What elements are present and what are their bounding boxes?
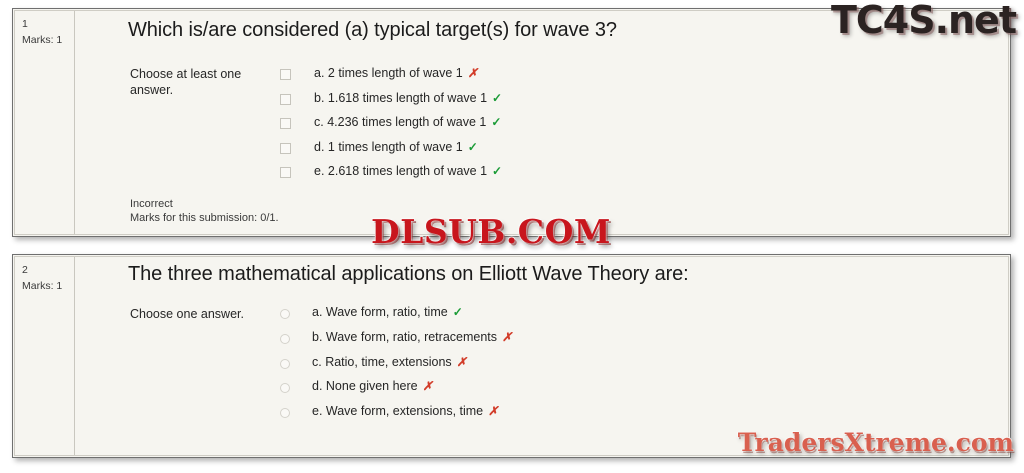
question-1-feedback: Incorrect Marks for this submission: 0/1… <box>130 197 279 225</box>
check-icon: ✓ <box>453 305 463 319</box>
question-2-title: The three mathematical applications on E… <box>128 263 689 286</box>
option-radio-a[interactable] <box>280 309 290 319</box>
option-label-b: b. Wave form, ratio, retracements✗ <box>312 328 512 346</box>
question-1-marks: Marks: 1 <box>22 34 74 47</box>
question-2-number: 2 <box>22 264 74 277</box>
option-label-d: d. None given here✗ <box>312 377 433 395</box>
option-checkbox-c[interactable] <box>280 118 291 129</box>
option-checkbox-a[interactable] <box>280 69 291 80</box>
cross-icon: ✗ <box>468 66 478 80</box>
option-text-a: a. Wave form, ratio, time <box>312 305 448 319</box>
option-label-d: d. 1 times length of wave 1✓ <box>314 138 478 156</box>
cross-icon: ✗ <box>423 379 433 393</box>
option-radio-b[interactable] <box>280 334 290 344</box>
option-label-e: e. 2.618 times length of wave 1✓ <box>314 162 502 180</box>
question-panel-2-inner: 2 Marks: 1 The three mathematical applic… <box>14 256 1009 456</box>
option-text-c: c. 4.236 times length of wave 1 <box>314 115 486 129</box>
check-icon: ✓ <box>468 140 478 154</box>
question-panel-2: 2 Marks: 1 The three mathematical applic… <box>12 254 1011 458</box>
option-text-c: c. Ratio, time, extensions <box>312 355 452 369</box>
check-icon: ✓ <box>492 91 502 105</box>
question-panel-1: 1 Marks: 1 Which is/are considered (a) t… <box>12 8 1011 237</box>
option-text-b: b. Wave form, ratio, retracements <box>312 330 497 344</box>
question-1-meta: 1 Marks: 1 <box>15 11 75 234</box>
check-icon: ✓ <box>491 115 501 129</box>
option-label-a: a. Wave form, ratio, time✓ <box>312 303 463 321</box>
cross-icon: ✗ <box>457 355 467 369</box>
option-checkbox-b[interactable] <box>280 94 291 105</box>
option-text-d: d. 1 times length of wave 1 <box>314 140 463 154</box>
feedback-submission: Marks for this submission: 0/1. <box>130 211 279 225</box>
question-2-marks: Marks: 1 <box>22 280 74 293</box>
option-label-b: b. 1.618 times length of wave 1✓ <box>314 89 502 107</box>
option-radio-d[interactable] <box>280 383 290 393</box>
question-1-number: 1 <box>22 18 74 31</box>
option-label-c: c. Ratio, time, extensions✗ <box>312 353 467 371</box>
quiz-review-page: 1 Marks: 1 Which is/are considered (a) t… <box>0 0 1024 473</box>
option-text-e: e. Wave form, extensions, time <box>312 404 483 418</box>
option-text-a: a. 2 times length of wave 1 <box>314 66 463 80</box>
question-1-title: Which is/are considered (a) typical targ… <box>128 19 617 42</box>
feedback-result: Incorrect <box>130 197 279 211</box>
option-text-b: b. 1.618 times length of wave 1 <box>314 91 487 105</box>
question-panel-1-inner: 1 Marks: 1 Which is/are considered (a) t… <box>14 10 1009 235</box>
question-2-prompt: Choose one answer. <box>130 307 280 323</box>
option-text-e: e. 2.618 times length of wave 1 <box>314 164 487 178</box>
cross-icon: ✗ <box>488 404 498 418</box>
check-icon: ✓ <box>492 164 502 178</box>
option-checkbox-e[interactable] <box>280 167 291 178</box>
option-label-c: c. 4.236 times length of wave 1✓ <box>314 113 501 131</box>
question-1-prompt: Choose at least one answer. <box>130 67 280 98</box>
option-text-d: d. None given here <box>312 379 418 393</box>
option-radio-c[interactable] <box>280 359 290 369</box>
option-label-a: a. 2 times length of wave 1✗ <box>314 64 478 82</box>
option-checkbox-d[interactable] <box>280 143 291 154</box>
question-2-body: The three mathematical applications on E… <box>76 257 1008 455</box>
question-2-meta: 2 Marks: 1 <box>15 257 75 455</box>
question-1-body: Which is/are considered (a) typical targ… <box>76 11 1008 234</box>
option-label-e: e. Wave form, extensions, time✗ <box>312 402 498 420</box>
cross-icon: ✗ <box>502 330 512 344</box>
option-radio-e[interactable] <box>280 408 290 418</box>
